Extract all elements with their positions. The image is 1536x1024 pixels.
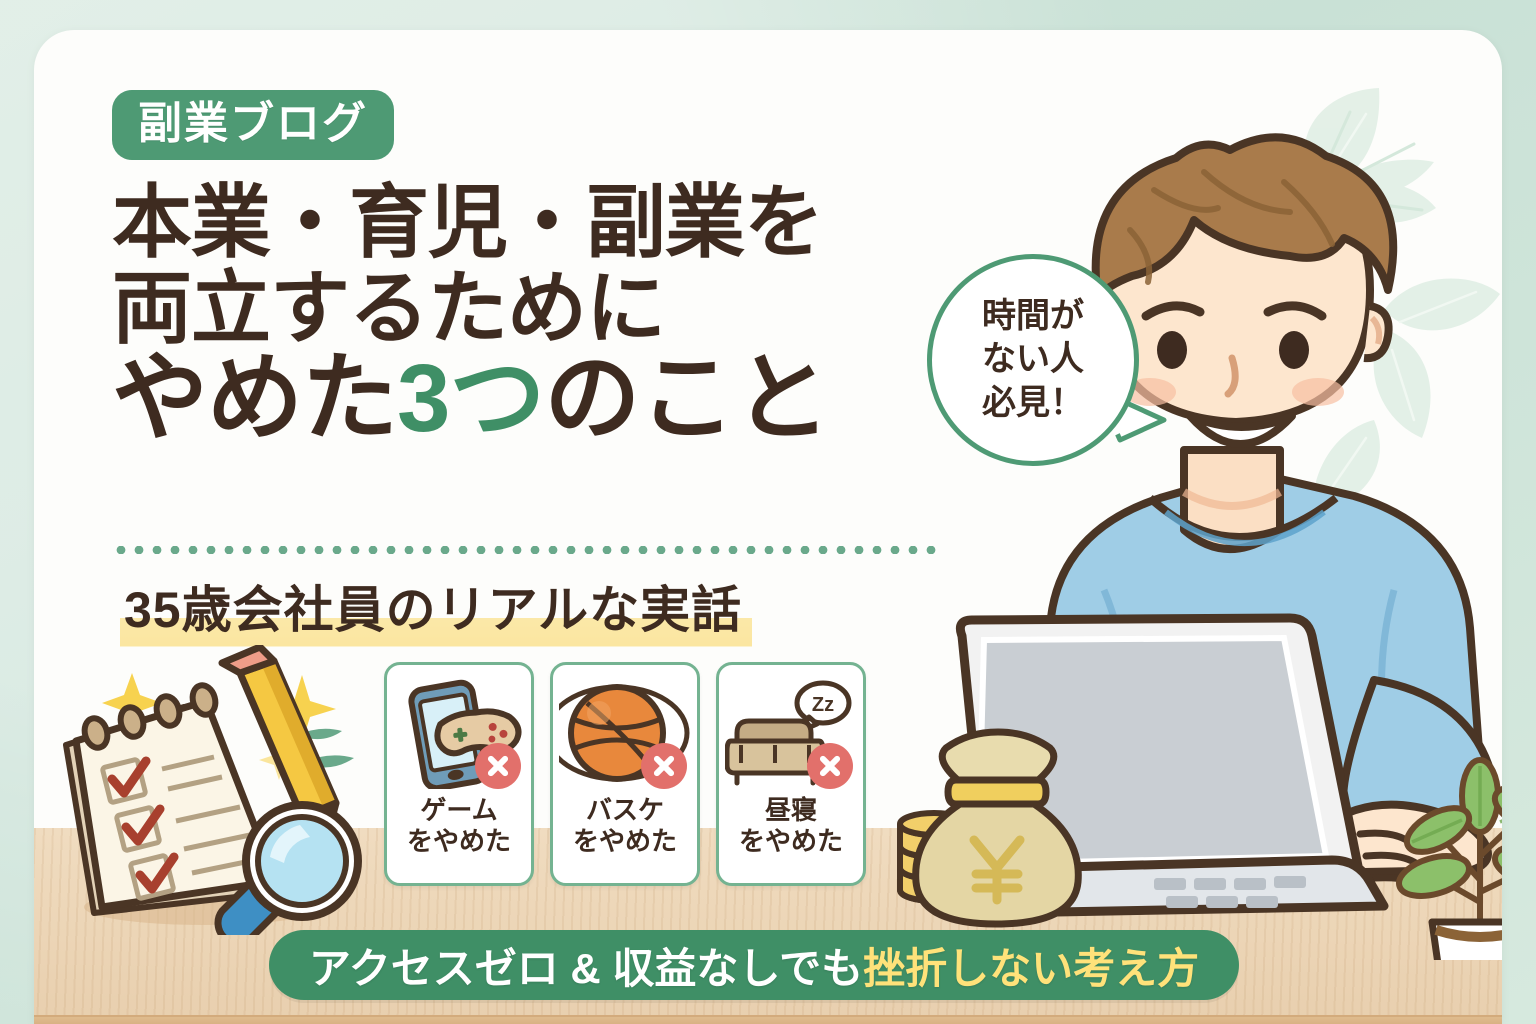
- x-mark-icon: [475, 743, 521, 789]
- basketball-icon: [559, 679, 691, 789]
- headline-line-3: やめた3つのこと: [112, 351, 972, 447]
- quit-card-basketball[interactable]: バスケ をやめた: [550, 662, 700, 886]
- subtitle: 35歳会社員のリアルな実話: [120, 566, 752, 650]
- headline-number: 3つ: [397, 345, 544, 452]
- quit-card-label: バスケ をやめた: [573, 795, 677, 856]
- banner-text-plain: アクセスゼロ & 収益なしでも: [309, 945, 863, 992]
- dotted-divider: [112, 546, 940, 554]
- x-mark-icon: [807, 743, 853, 789]
- quit-card-line-2: をやめた: [573, 826, 677, 857]
- headline-line-2: 両立するために: [112, 266, 972, 352]
- main-white-card: 副業ブログ 本業・育児・副業を 両立するために やめた3つのこと 35歳会社員の…: [34, 30, 1502, 1024]
- quit-cards-row: ゲーム をやめた: [384, 662, 866, 886]
- man-typing-on-laptop-illustration: [854, 120, 1502, 960]
- checklist-notepad-icon: [54, 645, 394, 935]
- sofa-nap-icon: Zz: [725, 679, 857, 789]
- headline-line-3-prefix: やめた: [112, 345, 397, 452]
- quit-card-line-1: ゲーム: [420, 795, 497, 825]
- headline-line-3-suffix: のこと: [544, 345, 829, 452]
- quit-card-line-2: をやめた: [739, 826, 843, 857]
- svg-text:Zz: Zz: [812, 694, 834, 716]
- headline-line-1: 本業・育児・副業を: [112, 180, 972, 266]
- headline-block: 本業・育児・副業を 両立するために やめた3つのこと: [112, 180, 972, 447]
- quit-card-line-1: 昼寝: [765, 795, 817, 825]
- quit-card-label: ゲーム をやめた: [407, 795, 511, 856]
- quit-card-game[interactable]: ゲーム をやめた: [384, 662, 534, 886]
- speech-bubble-line-3: 必見！: [982, 382, 1084, 426]
- speech-bubble: 時間が ない人 必見！: [927, 254, 1139, 466]
- x-mark-icon: [641, 743, 687, 789]
- quit-card-line-2: をやめた: [407, 826, 511, 857]
- quit-card-label: 昼寝 をやめた: [739, 795, 843, 856]
- quit-card-line-1: バスケ: [586, 795, 664, 825]
- smartphone-game-icon: [393, 679, 525, 789]
- category-badge: 副業ブログ: [112, 90, 394, 160]
- quit-card-nap[interactable]: Zz 昼寝 をやめた: [716, 662, 866, 886]
- money-bag-yen-icon: [900, 732, 1078, 924]
- speech-bubble-line-1: 時間が: [982, 295, 1084, 339]
- desk-front-edge: [34, 1015, 1502, 1024]
- speech-bubble-line-2: ない人: [982, 338, 1084, 382]
- page-background: 副業ブログ 本業・育児・副業を 両立するために やめた3つのこと 35歳会社員の…: [0, 0, 1536, 1024]
